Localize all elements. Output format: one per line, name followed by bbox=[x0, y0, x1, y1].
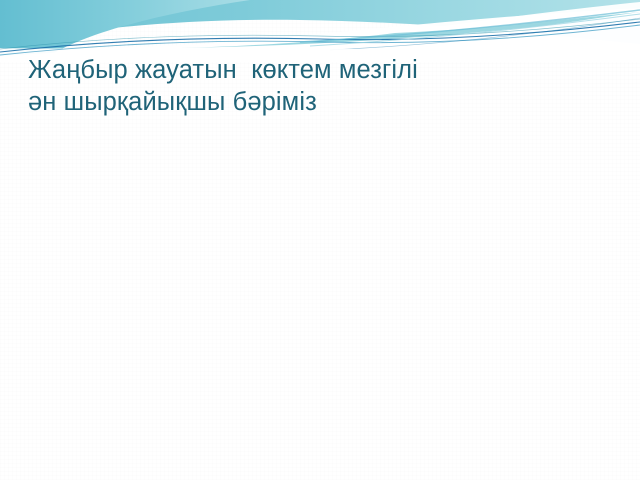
title-line-2: ән шырқайықшы бәріміз bbox=[28, 86, 612, 118]
slide-title: Жаңбыр жауатын көктем мезгілі ән шырқайы… bbox=[28, 54, 612, 118]
title-line-1: Жаңбыр жауатын көктем мезгілі bbox=[28, 54, 612, 86]
wave-banner-svg bbox=[0, 0, 640, 62]
slide-content-body bbox=[28, 132, 612, 452]
wave-banner-decoration bbox=[0, 0, 640, 62]
slide-canvas: Жаңбыр жауатын көктем мезгілі ән шырқайы… bbox=[0, 0, 640, 480]
